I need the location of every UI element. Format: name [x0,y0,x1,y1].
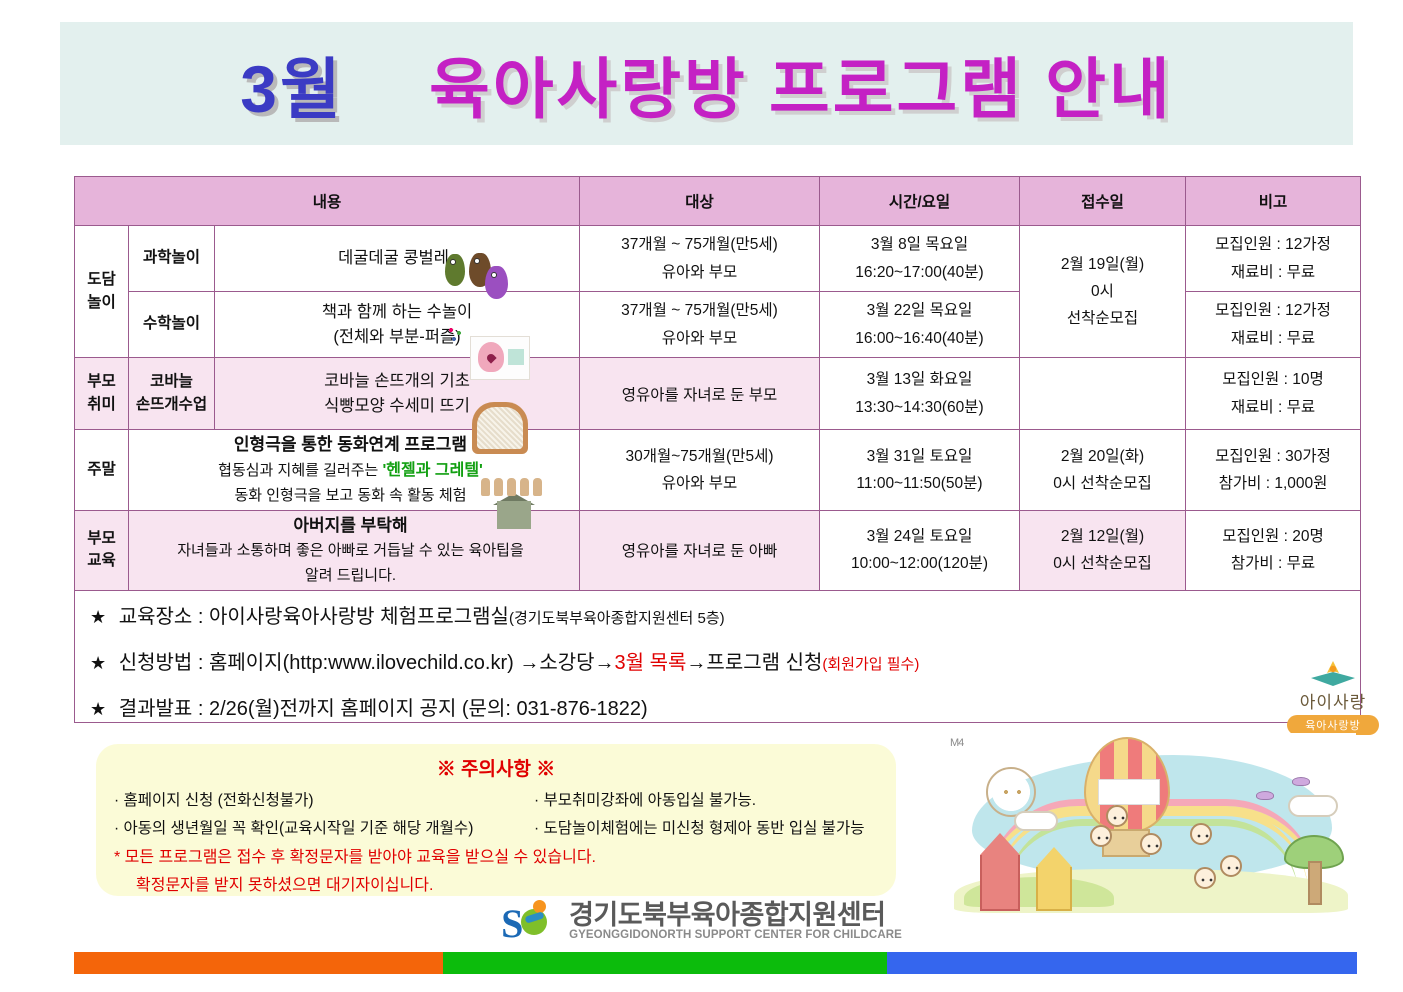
row-note: 모집인원 : 10명 재료비 : 무료 [1186,358,1361,430]
apply-line-2: 0시 선착순모집 [1053,475,1152,492]
row-target: 30개월~75개월(만5세) 유아와 부모 [580,430,820,511]
time-line-2: 16:00~16:40(40분) [855,330,983,347]
child-figure [1194,867,1216,889]
table-row: 주말 인형극을 통한 동화연계 프로그램 협동심과 지혜를 길러주는 '헨젤과 … [75,430,1361,511]
content-line-3: 동화 인형극을 보고 동화 속 활동 체험 [234,487,466,504]
note-line-2: 참가비 : 무료 [1231,555,1315,572]
row-content: 책과 함께 하는 수놀이 (전체와 부분-퍼즐) [215,292,580,358]
caution-items-grid: · 홈페이지 신청 (전화신청불가) · 부모취미강좌에 아동입실 불가능. ·… [114,788,878,838]
content-line-2b: '헨젤과 그레텔' [382,462,482,479]
note-label: 신청방법 : [119,652,204,674]
center-logo-text: 경기도북부육아종합지원센터 GYEONGGIDONORTH SUPPORT CE… [569,901,902,941]
note-main: 2/26(월)전까지 홈페이지 공지 (문의: 031-876-1822) [209,698,648,720]
child-figure [1220,855,1242,877]
row-target: 37개월 ~ 75개월(만5세) 유아와 부모 [580,292,820,358]
content-line-1: 아버지를 부탁해 [293,516,407,535]
subject-line-1: 코바늘 [150,373,193,390]
table-row: 도담 놀이 과학놀이 데굴데굴 콩벌레 37개월 ~ 75개월(만5세) 유아와… [75,226,1361,292]
note-line-2: 참가비 : 1,000원 [1219,475,1328,492]
star-icon: ★ [90,699,106,719]
children-illustration: M4 [944,733,1356,919]
note-red-membership: (회원가입 필수) [822,656,919,673]
time-line-2: 11:00~11:50(50분) [856,475,982,492]
child-figure [1090,825,1112,847]
bar-segment-green [443,952,887,974]
center-footer-logo: S 경기도북부육아종합지원센터 GYEONGGIDONORTH SUPPORT … [0,900,1403,942]
time-line-1: 3월 24일 토요일 [867,528,973,545]
apply-line-1: 2월 12일(월) [1061,528,1144,545]
caution-item: · 아동의 생년월일 꼭 확인(교육시작일 기준 해당 개월수) [114,816,534,838]
row-time: 3월 13일 화요일 13:30~14:30(60분) [820,358,1020,430]
illustration-watermark: M4 [950,737,963,749]
page-title: 3월 육아사랑방 프로그램 안내 [240,36,1172,132]
target-line-2: 유아와 부모 [662,475,738,492]
title-rest: 육아사랑방 프로그램 안내 [429,52,1173,126]
row-target: 37개월 ~ 75개월(만5세) 유아와 부모 [580,226,820,292]
row-subject: 코바늘 손뜨개수업 [129,358,215,430]
target-line-2: 유아와 부모 [662,264,738,281]
note-label: 결과발표 : [119,698,204,720]
content-line-3: 알려 드립니다. [305,567,396,584]
center-name-kr: 경기도북부육아종합지원센터 [569,901,902,929]
center-name-en: GYEONGGIDONORTH SUPPORT CENTER FOR CHILD… [569,929,902,941]
apply-line-2: 0시 [1091,283,1114,300]
table-header-row: 내용 대상 시간/요일 접수일 비고 [75,177,1361,226]
row-note: 모집인원 : 12가정 재료비 : 무료 [1186,226,1361,292]
note-result-announce: ★ 결과발표 : 2/26(월)전까지 홈페이지 공지 (문의: 031-876… [90,692,1330,721]
category-line-1: 부모 [87,373,116,390]
content-line-2: 식빵모양 수세미 뜨기 [324,397,470,415]
content-line-2: 자녀들과 소통하며 좋은 아빠로 거듭날 수 있는 육아팁을 [177,542,524,559]
ilovechild-logo: 아이사랑 육아사랑방 [1277,660,1389,735]
cloud-icon [1014,811,1058,831]
child-figure [1106,805,1128,827]
category-line-1: 도담 [87,271,116,288]
note-line-2: 재료비 : 무료 [1231,264,1315,281]
row-note: 모집인원 : 20명 참가비 : 무료 [1186,510,1361,590]
star-person-icon [1303,660,1363,690]
row-category-weekend: 주말 [75,430,129,511]
title-banner: 3월 육아사랑방 프로그램 안내 [60,22,1353,145]
note-line-1: 모집인원 : 10명 [1222,371,1323,388]
row-content: 아버지를 부탁해 자녀들과 소통하며 좋은 아빠로 거듭날 수 있는 육아팁을 … [129,510,580,590]
row-content-text: 인형극을 통한 동화연계 프로그램 협동심과 지혜를 길러주는 '헨젤과 그레텔… [218,432,483,508]
category-line-2: 취미 [87,396,116,413]
time-line-2: 13:30~14:30(60분) [855,399,983,416]
time-line-2: 16:20~17:00(40분) [855,264,983,281]
caution-item: · 부모취미강좌에 아동입실 불가능. [534,788,878,810]
row-content: 인형극을 통한 동화연계 프로그램 협동심과 지혜를 길러주는 '헨젤과 그레텔… [129,430,580,511]
note-line-1: 모집인원 : 12가정 [1215,236,1331,253]
row-time: 3월 24일 토요일 10:00~12:00(120분) [820,510,1020,590]
category-line-2: 교육 [87,552,116,569]
row-target: 영유아를 자녀로 둔 부모 [580,358,820,430]
child-figure [1140,833,1162,855]
row-content-text: 데굴데굴 콩벌레 [338,246,449,271]
note-apply-method: ★ 신청방법 : 홈페이지(http:www.ilovechild.co.kr)… [90,646,1330,675]
row-note: 모집인원 : 30가정 참가비 : 1,000원 [1186,430,1361,511]
note-line-1: 모집인원 : 12가정 [1215,302,1331,319]
row-content: 코바늘 손뜨개의 기초 식빵모양 수세미 뜨기 [215,358,580,430]
bar-segment-orange [74,952,443,974]
content-line-1: 책과 함께 하는 수놀이 [322,303,472,321]
row-note: 모집인원 : 12가정 재료비 : 무료 [1186,292,1361,358]
cloud-icon [1288,795,1338,817]
note-line-2: 재료비 : 무료 [1231,330,1315,347]
note-main: 아이사랑육아사랑방 체험프로그램실 [209,606,509,628]
logo-letter-s: S [501,908,523,940]
row-apply-date: 2월 19일(월) 0시 선착순모집 [1020,226,1186,358]
time-line-2: 10:00~12:00(120분) [851,555,988,572]
category-line-1: 부모 [87,530,116,547]
title-month: 3월 [240,52,343,126]
notes-section: ★ 교육장소 : 아이사랑육아사랑방 체험프로그램실(경기도북부육아종합지원센터… [90,600,1330,738]
row-apply-date: 2월 12일(월) 0시 선착순모집 [1020,510,1186,590]
content-line-2: (전체와 부분-퍼즐) [333,328,460,346]
row-apply-date: 2월 20일(화) 0시 선착순모집 [1020,430,1186,511]
table-row: 부모 교육 아버지를 부탁해 자녀들과 소통하며 좋은 아빠로 거듭날 수 있는… [75,510,1361,590]
note-line-1: 모집인원 : 20명 [1222,528,1323,545]
note-location: ★ 교육장소 : 아이사랑육아사랑방 체험프로그램실(경기도북부육아종합지원센터… [90,600,1330,629]
star-icon: ★ [90,607,106,627]
apply-line-1: 2월 20일(화) [1061,448,1144,465]
apply-line-2: 0시 선착순모집 [1053,555,1152,572]
row-time: 3월 8일 목요일 16:20~17:00(40분) [820,226,1020,292]
content-line-1: 코바늘 손뜨개의 기초 [324,372,470,390]
bar-segment-blue [887,952,1357,974]
row-time: 3월 31일 토요일 11:00~11:50(50분) [820,430,1020,511]
note-label: 교육장소 : [119,606,204,628]
apply-line-3: 선착순모집 [1067,310,1138,327]
content-line-2a: 협동심과 지혜를 길러주는 [218,462,382,479]
caution-box: ※ 주의사항 ※ · 홈페이지 신청 (전화신청불가) · 부모취미강좌에 아동… [96,744,896,896]
category-line-2: 놀이 [87,294,116,311]
child-figure [1190,823,1212,845]
caution-red-line-1: * 모든 프로그램은 접수 후 확정문자를 받아야 교육을 받으실 수 있습니다… [114,843,878,867]
time-line-1: 3월 22일 목요일 [867,302,973,319]
row-subject: 수학놀이 [129,292,215,358]
target-line-1: 37개월 ~ 75개월(만5세) [621,236,778,253]
bird-icon [1292,777,1310,786]
row-category-parent-education: 부모 교육 [75,510,129,590]
ilovechild-logo-badge: 육아사랑방 [1287,715,1379,735]
table-row: 부모 취미 코바늘 손뜨개수업 코바늘 손뜨개의 기초 식빵모양 수세미 뜨기 … [75,358,1361,430]
row-content: 데굴데굴 콩벌레 [215,226,580,292]
content-line-1: 인형극을 통한 동화연계 프로그램 [234,435,467,454]
tree-trunk [1308,861,1322,905]
note-line-2: 재료비 : 무료 [1231,399,1315,416]
subject-line-2: 손뜨개수업 [136,396,207,413]
caution-item: · 도담놀이체험에는 미신청 형제아 동반 입실 불가능 [534,816,878,838]
header-apply: 접수일 [1020,177,1186,226]
sun-icon [986,767,1036,817]
row-content-text: 코바늘 손뜨개의 기초 식빵모양 수세미 뜨기 [324,369,470,419]
header-note: 비고 [1186,177,1361,226]
target-line-1: 30개월~75개월(만5세) [625,448,773,465]
row-subject: 과학놀이 [129,226,215,292]
row-target: 영유아를 자녀로 둔 아빠 [580,510,820,590]
row-category-parent-hobby: 부모 취미 [75,358,129,430]
time-line-1: 3월 8일 목요일 [871,236,968,253]
center-logo-mark-icon: S [501,900,559,942]
caution-red-line-2: 확정문자를 받지 못하셨으면 대기자이십니다. [114,871,878,895]
header-content: 내용 [75,177,580,226]
caution-title: ※ 주의사항 ※ [114,754,878,781]
note-red-march-list: 3월 목록 [615,652,687,674]
header-target: 대상 [580,177,820,226]
row-category-dodam: 도담 놀이 [75,226,129,358]
row-time: 3월 22일 목요일 16:00~16:40(40분) [820,292,1020,358]
bottom-color-bar [74,952,1357,974]
row-content-text: 아버지를 부탁해 자녀들과 소통하며 좋은 아빠로 거듭날 수 있는 육아팁을 … [177,513,524,588]
note-part-2: →프로그램 신청 [686,652,822,674]
target-line-1: 37개월 ~ 75개월(만5세) [621,302,778,319]
row-apply-date-empty [1020,358,1186,430]
note-line-1: 모집인원 : 30가정 [1215,448,1331,465]
caution-item: · 홈페이지 신청 (전화신청불가) [114,788,534,810]
time-line-1: 3월 31일 토요일 [867,448,973,465]
star-icon: ★ [90,653,106,673]
note-part-1: 홈페이지(http:www.ilovechild.co.kr) →소강당→ [209,652,615,674]
target-line-2: 유아와 부모 [662,330,738,347]
time-line-1: 3월 13일 화요일 [867,371,973,388]
ilovechild-logo-name: 아이사랑 [1277,688,1389,713]
apply-line-1: 2월 19일(월) [1061,256,1144,273]
note-paren: (경기도북부육아종합지원센터 5층) [509,610,725,627]
bird-icon [1256,791,1274,800]
balloon-label-area [1098,779,1160,805]
header-time: 시간/요일 [820,177,1020,226]
